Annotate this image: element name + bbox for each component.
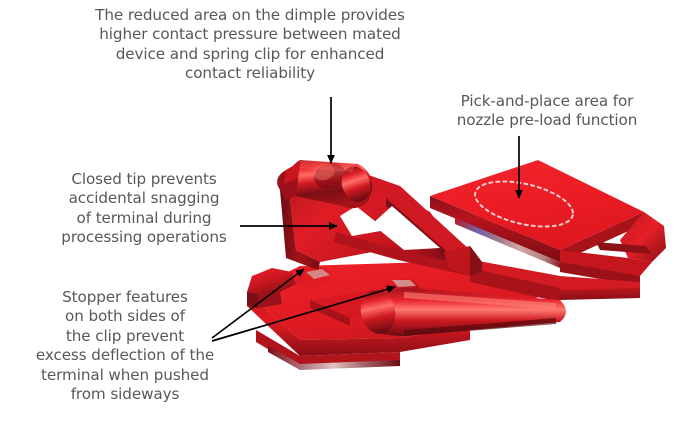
nozzle-marker-ellipse — [471, 173, 577, 234]
spring-arm — [280, 168, 470, 276]
figure-canvas: The reduced area on the dimple provides … — [0, 0, 680, 423]
stopper-right — [380, 278, 420, 310]
stopper-left — [247, 268, 296, 308]
rolled-edge — [560, 212, 666, 286]
center-rib — [444, 246, 482, 276]
annotation-closed-tip: Closed tip prevents accidental snagging … — [26, 170, 262, 248]
pick-and-place-pad — [430, 160, 644, 268]
closed-tip — [277, 162, 300, 200]
annotation-stopper: Stopper features on both sides of the cl… — [0, 288, 250, 404]
annotation-pick-and-place: Pick-and-place area for nozzle pre-load … — [414, 92, 680, 131]
stopper-notch-center — [296, 266, 332, 288]
annotation-dimple: The reduced area on the dimple provides … — [40, 6, 460, 84]
dimple — [289, 160, 375, 209]
contact-beam — [357, 287, 566, 337]
base-plate — [247, 262, 560, 370]
lower-return-strap — [430, 252, 640, 300]
